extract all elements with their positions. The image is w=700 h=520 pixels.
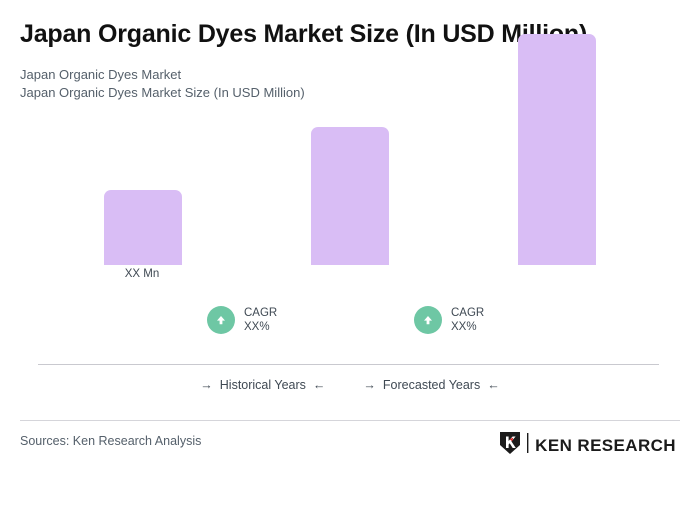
logo-wordmark: KEN RESEARCH	[535, 437, 676, 454]
bar-historical[interactable]	[104, 190, 182, 265]
period-label: Historical Years	[220, 378, 306, 392]
chart-page: Japan Organic Dyes Market Size (In USD M…	[0, 0, 700, 520]
sources-text: Sources: Ken Research Analysis	[20, 434, 201, 448]
period-label: Forecasted Years	[383, 378, 480, 392]
bar-value-label-line-2: XX Mn	[87, 267, 197, 281]
cagr-label: CAGR	[244, 306, 277, 320]
period-historical-years: → Historical Years ←	[200, 378, 325, 392]
period-legend: → Historical Years ← → Forecasted Years …	[0, 378, 700, 392]
arrow-right-icon: →	[363, 379, 376, 392]
arrow-up-icon	[207, 306, 235, 334]
cagr-text: CAGR XX%	[244, 306, 277, 334]
ken-research-shield-icon	[499, 431, 521, 460]
chart-baseline	[38, 364, 659, 365]
cagr-badge-historical: CAGR XX%	[207, 306, 277, 334]
logo-divider	[526, 433, 530, 458]
cagr-text: CAGR XX%	[451, 306, 484, 334]
cagr-value: XX%	[451, 320, 484, 334]
arrow-left-icon: ←	[487, 379, 500, 392]
cagr-label: CAGR	[451, 306, 484, 320]
arrow-left-icon: ←	[313, 379, 326, 392]
arrow-up-icon	[414, 306, 442, 334]
period-forecasted-years: → Forecasted Years ←	[363, 378, 499, 392]
chart-plot-area: ~USD XX Mn ~USD 700 Mn ~USD XX Mn CAGR X…	[0, 0, 700, 420]
cagr-badge-forecast: CAGR XX%	[414, 306, 484, 334]
ken-research-logo: KEN RESEARCH	[499, 431, 676, 460]
bar-forecast[interactable]	[518, 34, 596, 265]
arrow-right-icon: →	[200, 379, 213, 392]
footer-divider	[20, 420, 680, 421]
bar-base-year[interactable]	[311, 127, 389, 265]
cagr-value: XX%	[244, 320, 277, 334]
